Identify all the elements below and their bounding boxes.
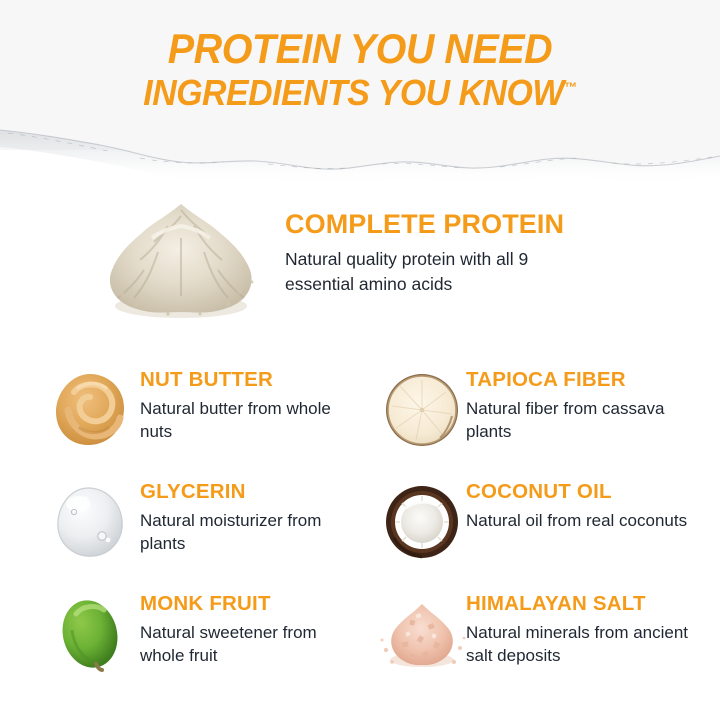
- ingredient-title: TAPIOCA FIBER: [466, 368, 706, 392]
- nut-butter-text: NUT BUTTER Natural butter from whole nut…: [140, 368, 356, 443]
- glycerin-image: [44, 478, 136, 566]
- ingredient-description: Natural butter from whole nuts: [140, 397, 356, 444]
- nut-butter-swirl-icon: [44, 366, 136, 454]
- coconut-half-icon: [376, 478, 468, 566]
- tapioca-fiber-image: [376, 366, 468, 454]
- ingredient-description: Natural fiber from cassava plants: [466, 397, 706, 444]
- headline-line-2-text: INGREDIENTS YOU KNOW: [143, 72, 564, 113]
- glycerin-text: GLYCERIN Natural moisturizer from plants: [140, 480, 356, 555]
- coconut-oil-image: [376, 478, 468, 566]
- himalayan-salt-image: [376, 590, 468, 678]
- ingredient-description: Natural moisturizer from plants: [140, 509, 356, 556]
- tapioca-fiber-text: TAPIOCA FIBER Natural fiber from cassava…: [466, 368, 706, 443]
- headline-line-1: PROTEIN YOU NEED: [22, 28, 699, 70]
- ingredient-item-monk-fruit: MONK FRUIT Natural sweetener from whole …: [26, 584, 356, 696]
- ingredient-item-tapioca-fiber: TAPIOCA FIBER Natural fiber from cassava…: [352, 360, 700, 472]
- headline-line-2: INGREDIENTS YOU KNOW™: [22, 75, 699, 111]
- ingredient-item-nut-butter: NUT BUTTER Natural butter from whole nut…: [26, 360, 356, 472]
- ingredient-grid: NUT BUTTER Natural butter from whole nut…: [0, 360, 720, 696]
- salt-pile: [391, 604, 453, 665]
- glycerin-bubble: [84, 496, 87, 499]
- ingredient-title: COCONUT OIL: [466, 480, 706, 504]
- ingredient-item-glycerin: GLYCERIN Natural moisturizer from plants: [26, 472, 356, 584]
- ingredient-description: Natural minerals from ancient salt depos…: [466, 621, 706, 668]
- headline-block: PROTEIN YOU NEED INGREDIENTS YOU KNOW™: [0, 28, 720, 111]
- coconut-oil-text: COCONUT OIL Natural oil from real coconu…: [466, 480, 706, 532]
- featured-text-block: COMPLETE PROTEIN Natural quality protein…: [285, 210, 685, 296]
- protein-powder-pile-image: [82, 188, 280, 336]
- glycerin-bubble: [106, 538, 111, 543]
- ingredient-infographic: PROTEIN YOU NEED INGREDIENTS YOU KNOW™: [0, 0, 720, 720]
- featured-ingredient: COMPLETE PROTEIN Natural quality protein…: [0, 186, 720, 346]
- monk-fruit-icon: [44, 590, 136, 678]
- trademark-symbol: ™: [564, 80, 577, 95]
- ingredient-title: NUT BUTTER: [140, 368, 356, 392]
- ingredient-title: MONK FRUIT: [140, 592, 356, 616]
- ingredient-title: GLYCERIN: [140, 480, 356, 504]
- featured-description: Natural quality protein with all 9 essen…: [285, 247, 590, 297]
- ingredient-item-coconut-oil: COCONUT OIL Natural oil from real coconu…: [352, 472, 700, 584]
- glycerin-bubble: [98, 532, 106, 540]
- ingredient-row: GLYCERIN Natural moisturizer from plants: [0, 472, 720, 584]
- glycerin-gel-drop-icon: [44, 478, 136, 566]
- ingredient-row: NUT BUTTER Natural butter from whole nut…: [0, 360, 720, 472]
- nut-butter-image: [44, 366, 136, 454]
- tapioca-cassava-slice-icon: [376, 366, 468, 454]
- featured-title: COMPLETE PROTEIN: [285, 210, 685, 240]
- protein-powder-pile-icon: [82, 188, 280, 336]
- himalayan-salt-text: HIMALAYAN SALT Natural minerals from anc…: [466, 592, 706, 667]
- monk-fruit-image: [44, 590, 136, 678]
- ingredient-title: HIMALAYAN SALT: [466, 592, 706, 616]
- monk-fruit-text: MONK FRUIT Natural sweetener from whole …: [140, 592, 356, 667]
- ingredient-description: Natural sweetener from whole fruit: [140, 621, 356, 668]
- ingredient-item-himalayan-salt: HIMALAYAN SALT Natural minerals from anc…: [352, 584, 700, 696]
- ingredient-row: MONK FRUIT Natural sweetener from whole …: [0, 584, 720, 696]
- himalayan-pink-salt-pile-icon: [376, 590, 468, 678]
- ingredient-description: Natural oil from real coconuts: [466, 509, 706, 532]
